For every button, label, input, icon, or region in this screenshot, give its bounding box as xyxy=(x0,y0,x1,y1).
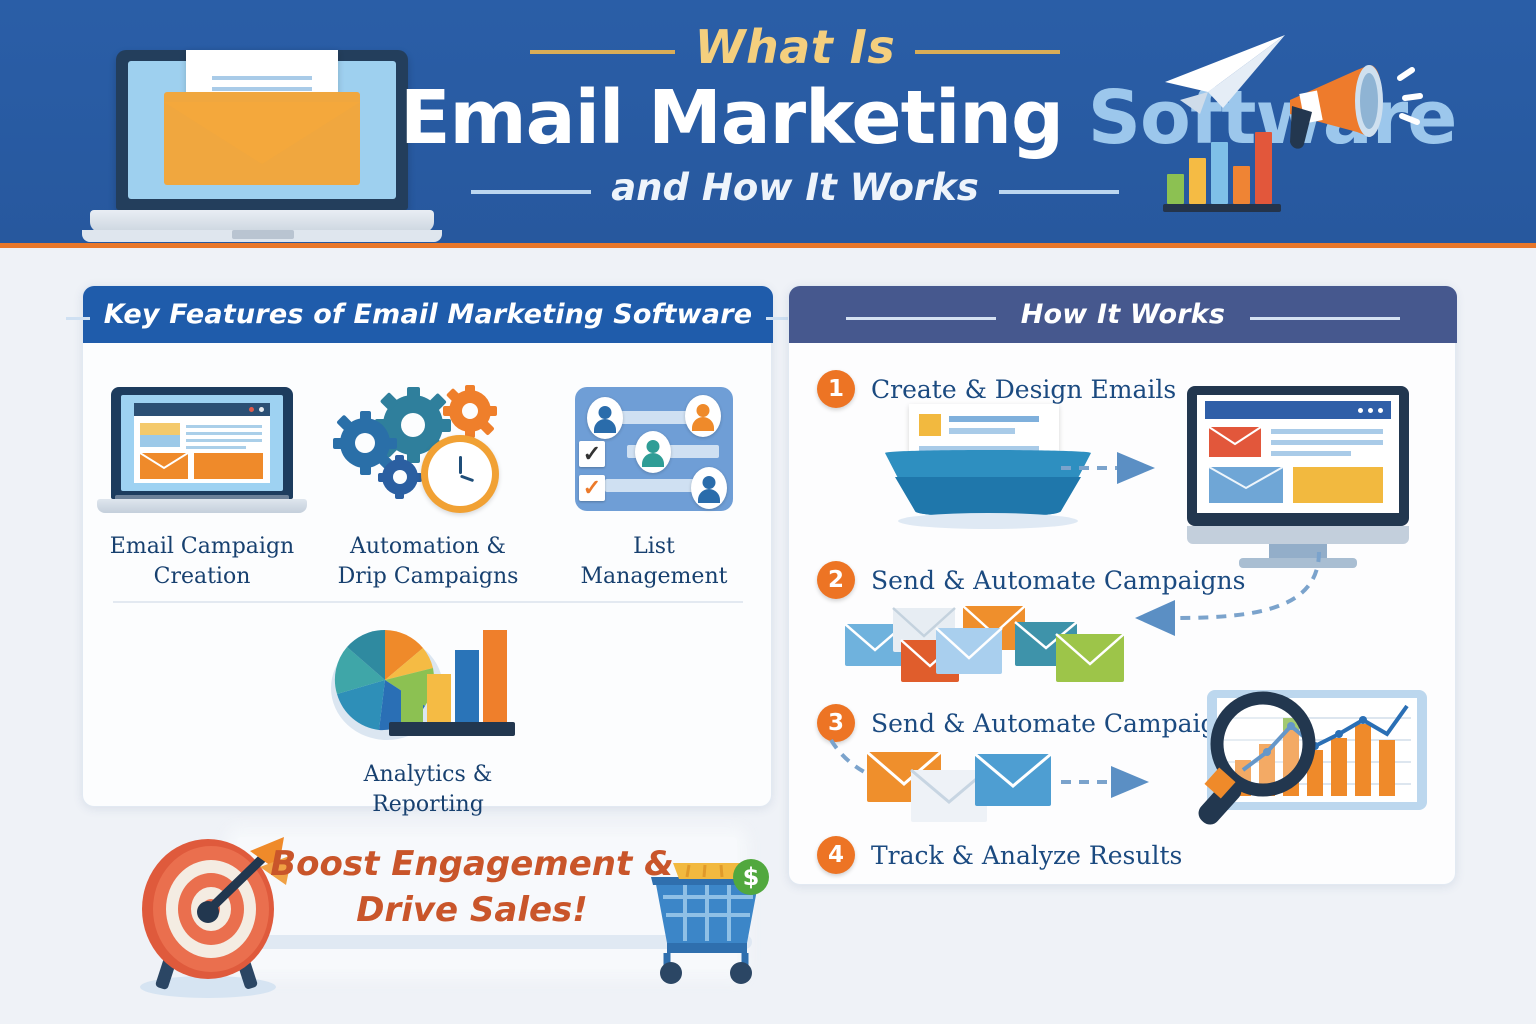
step-number-badge: 4 xyxy=(817,836,855,874)
bar xyxy=(1255,132,1272,204)
letter-line xyxy=(212,76,312,80)
feature-label-line1: Email Campaign xyxy=(97,532,307,562)
how-it-works-panel: How It Works 1 Create & Design Emails xyxy=(788,285,1456,885)
content-block-yellow xyxy=(1293,467,1383,503)
email-block-red xyxy=(1209,427,1261,457)
cta-text: Boost Engagement & Drive Sales! xyxy=(257,841,687,933)
monitor-screen xyxy=(1197,395,1399,513)
feature-email-campaign-creation[interactable]: Email Campaign Creation xyxy=(97,383,307,592)
feature-laptop-base xyxy=(97,499,307,513)
laptop-email-builder-icon xyxy=(97,383,307,518)
how-it-works-header: How It Works xyxy=(789,286,1457,343)
step-2[interactable]: 2 Send & Automate Campaigns xyxy=(817,561,1245,599)
template-titlebar xyxy=(134,403,270,416)
feature-label-line2: Management xyxy=(549,562,759,592)
bar xyxy=(1167,174,1184,204)
content-line xyxy=(1271,429,1383,434)
template-envelope-block xyxy=(140,453,188,479)
template-line xyxy=(186,425,262,428)
feature-label-line2: Creation xyxy=(97,562,307,592)
feature-label: Email Campaign Creation xyxy=(97,532,307,592)
how-it-works-title: How It Works xyxy=(1021,299,1225,330)
clock-face xyxy=(428,442,492,506)
cart-svg: $ xyxy=(637,855,777,985)
header-title-block: What Is Email Marketing Software and How… xyxy=(400,18,1190,233)
bar xyxy=(1211,142,1228,204)
feature-automation-drip-campaigns[interactable]: Automation & Drip Campaigns xyxy=(323,383,533,592)
feature-label: Analytics & Reporting xyxy=(323,760,533,820)
key-features-panel: Key Features of Email Marketing Software xyxy=(82,285,772,807)
clock-icon xyxy=(421,435,499,513)
clock-hand-minute xyxy=(460,475,474,483)
cta-banner: Boost Engagement & Drive Sales! xyxy=(92,815,782,1005)
envelopes-to-analytics-icon xyxy=(825,734,1175,834)
step-1[interactable]: 1 Create & Design Emails xyxy=(817,370,1176,408)
monitor-chin xyxy=(1187,526,1409,544)
feature-label-line2: Drip Campaigns xyxy=(323,562,533,592)
list-row-bar xyxy=(605,479,697,492)
window-dot xyxy=(259,407,264,412)
contact-list-icon: ✓ ✓ xyxy=(549,383,759,518)
laptop-base xyxy=(90,210,434,232)
avatar-body xyxy=(698,489,720,503)
template-block xyxy=(194,453,263,479)
content-line xyxy=(1271,451,1351,456)
sheet-thumb xyxy=(919,414,941,436)
inbox-tray-to-monitor-icon xyxy=(869,404,1159,534)
envelopes-svg xyxy=(841,606,1161,686)
pie-bar-chart-icon xyxy=(323,618,533,746)
template-thumb-lower xyxy=(140,435,180,447)
multiple-envelopes-icon xyxy=(841,606,1161,686)
sheet-line xyxy=(949,428,1015,434)
key-features-header: Key Features of Email Marketing Software xyxy=(83,286,773,343)
laptop-icon: @ xyxy=(82,38,442,253)
avatar-head xyxy=(647,440,660,453)
avatar-body xyxy=(692,417,714,431)
feature-analytics-reporting[interactable]: Analytics & Reporting xyxy=(323,618,533,820)
feature-label-line1: List xyxy=(549,532,759,562)
step-label: Create & Design Emails xyxy=(871,375,1176,404)
feature-label-line1: Automation & xyxy=(323,532,533,562)
bar-chart-base xyxy=(1163,204,1281,212)
window-dot xyxy=(1378,408,1383,413)
avatar xyxy=(685,395,721,437)
header-title: Email Marketing Software xyxy=(400,76,1190,160)
template-line xyxy=(186,432,262,435)
avatar xyxy=(635,431,671,473)
monitor-icon xyxy=(1187,386,1427,566)
bar xyxy=(1233,166,1250,204)
email-block-blue xyxy=(1209,467,1283,503)
feature-label: Automation & Drip Campaigns xyxy=(323,532,533,592)
window-dot xyxy=(249,407,254,412)
avatar xyxy=(691,467,727,509)
megaphone-icon xyxy=(1272,52,1432,172)
key-features-title: Key Features of Email Marketing Software xyxy=(104,299,753,330)
bar xyxy=(1189,158,1206,204)
avatar-head xyxy=(599,406,612,419)
avatar-head xyxy=(703,476,716,489)
feature-laptop-screen xyxy=(111,387,293,499)
step-number-badge: 1 xyxy=(817,370,855,408)
envelope-front-flap xyxy=(164,102,360,164)
feature-list-management[interactable]: ✓ ✓ List Management xyxy=(549,383,759,592)
content-line xyxy=(1271,440,1383,445)
arrow-dashed-right xyxy=(1059,448,1159,488)
window-dot xyxy=(1368,408,1373,413)
shopping-cart-dollar-icon: $ xyxy=(637,855,777,985)
laptop-trackpad xyxy=(232,230,294,239)
browser-bar xyxy=(1205,401,1391,419)
feature-label: List Management xyxy=(549,532,759,592)
cta-line2: Drive Sales! xyxy=(257,887,687,933)
gears-clock-icon xyxy=(323,383,533,518)
bar-chart-icon xyxy=(1163,130,1281,212)
envelope-at-icon: @ xyxy=(164,50,360,185)
step-4[interactable]: 4 Track & Analyze Results xyxy=(817,836,1182,874)
header-accent-rule xyxy=(0,243,1536,248)
clock-hand-hour xyxy=(459,456,462,474)
feature-laptop-display xyxy=(121,395,283,491)
template-line xyxy=(186,439,262,442)
analytics-svg xyxy=(323,618,533,746)
header-eyebrow: What Is xyxy=(695,18,896,76)
magnifier-chart-icon xyxy=(1187,684,1437,834)
header-subtitle: and How It Works xyxy=(611,164,979,212)
template-line xyxy=(186,446,246,449)
panel-divider xyxy=(113,601,743,603)
header-title-main: Email Marketing xyxy=(400,75,1088,161)
feature-label-line1: Analytics & Reporting xyxy=(323,760,533,820)
cta-line1: Boost Engagement & xyxy=(257,841,687,887)
avatar-head xyxy=(697,404,710,417)
checkbox-checked[interactable]: ✓ xyxy=(579,441,605,467)
step-label: Send & Automate Campaigns xyxy=(871,566,1245,595)
step-number-badge: 2 xyxy=(817,561,855,599)
step3-envelopes-svg xyxy=(825,734,1175,834)
step-label: Track & Analyze Results xyxy=(871,841,1182,870)
sheet-line xyxy=(949,416,1039,422)
page-header: @ What Is Email Marketing Software and H… xyxy=(0,0,1536,243)
paper-plane-icon xyxy=(1160,30,1290,125)
checkbox-checked[interactable]: ✓ xyxy=(579,475,605,501)
avatar-body xyxy=(642,453,664,467)
window-dot xyxy=(1358,408,1363,413)
svg-text:$: $ xyxy=(743,863,760,891)
avatar xyxy=(587,397,623,439)
email-template-card xyxy=(134,403,270,483)
avatar-body xyxy=(594,419,616,433)
magnifier-chart-svg xyxy=(1187,684,1437,834)
